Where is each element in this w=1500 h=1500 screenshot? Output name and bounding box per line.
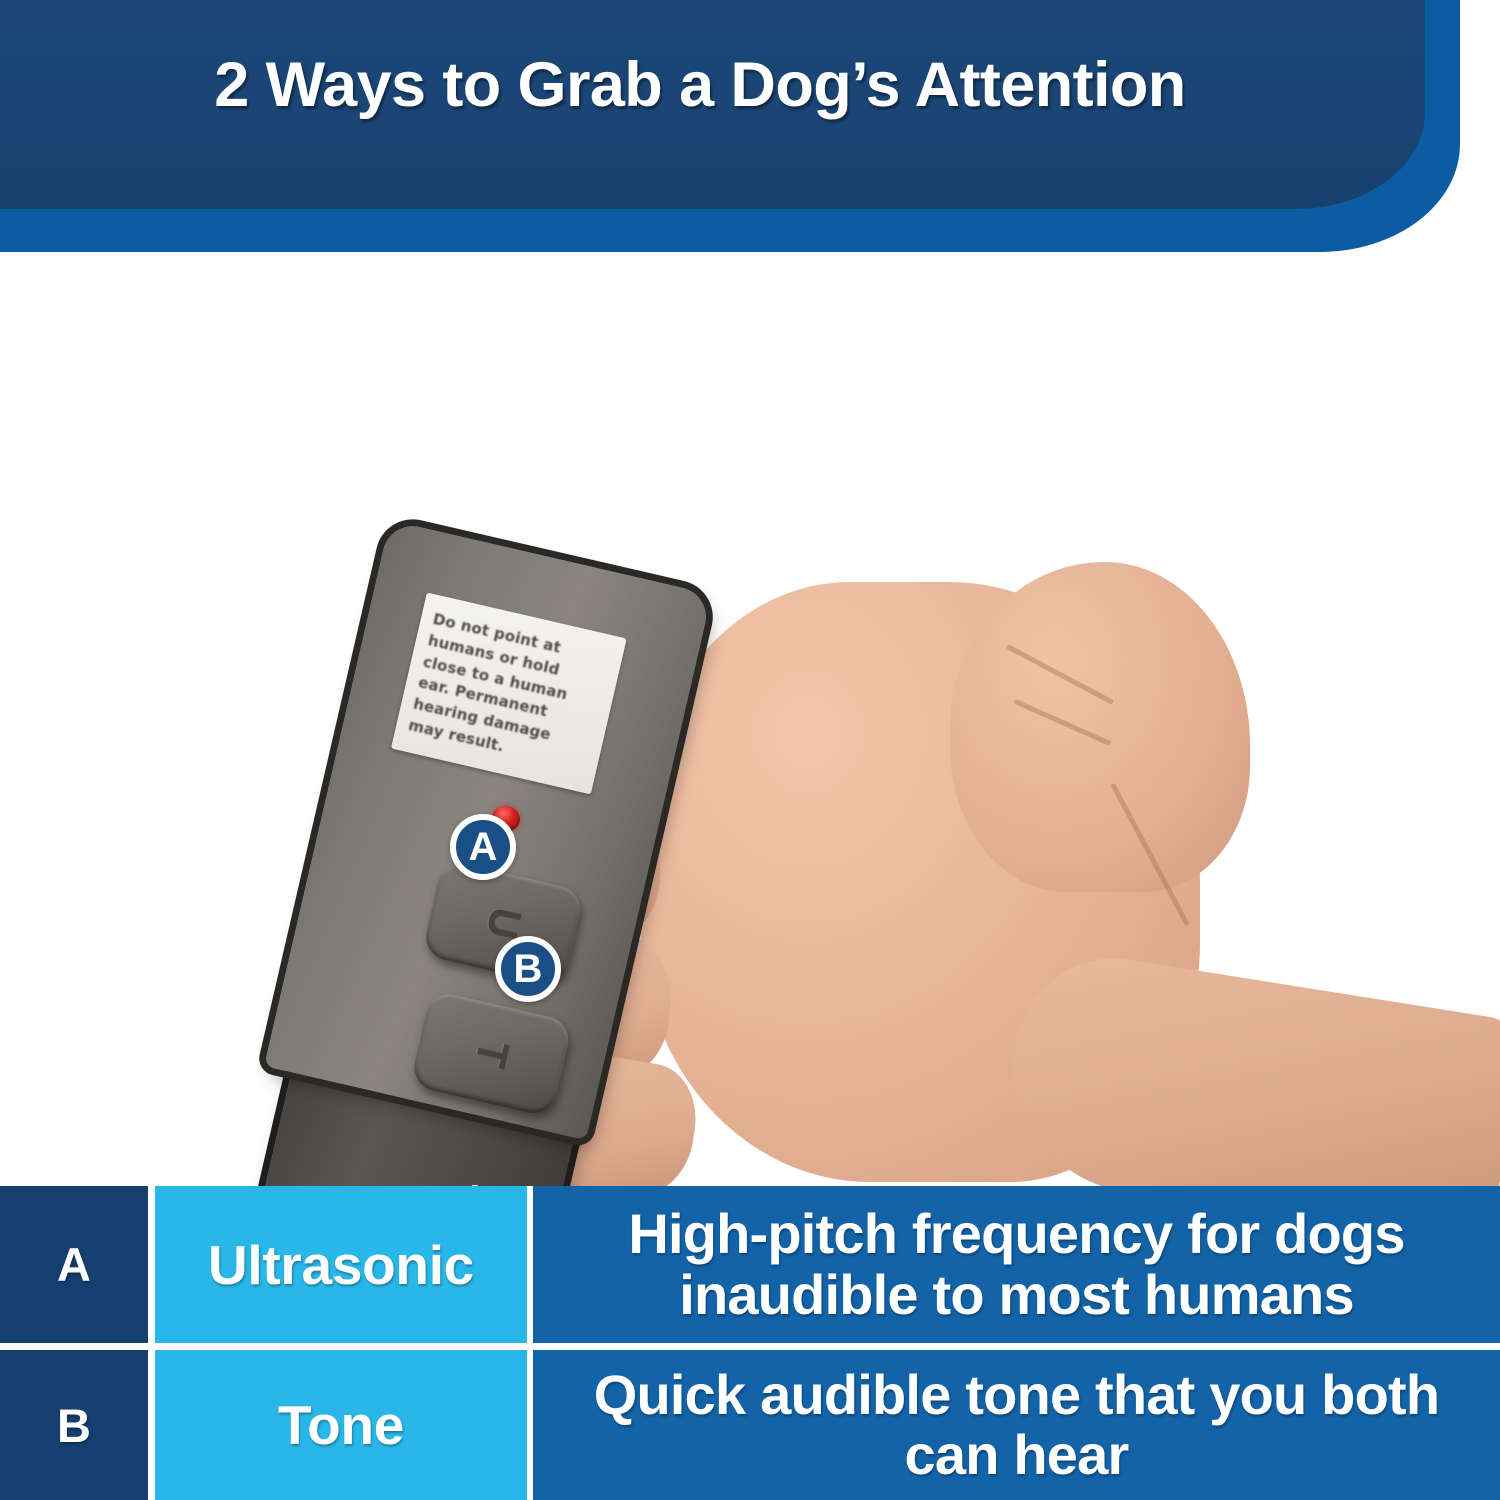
legend-row-divider	[155, 1343, 527, 1350]
warning-label: Do not point at humans or hold close to …	[391, 592, 627, 794]
legend-row-b-description: Quick audible tone that you both can hea…	[533, 1350, 1500, 1500]
device-tone-button[interactable]: T	[410, 990, 573, 1118]
thumb-knuckle	[950, 562, 1250, 892]
product-photo: Ultrasonic Pet Trainer Do not point at h…	[0, 252, 1500, 1186]
legend-column-divider	[148, 1186, 155, 1343]
warning-label-text: Do not point at humans or hold close to …	[406, 609, 612, 777]
callout-marker-a: A	[450, 814, 516, 880]
legend-row-divider	[148, 1343, 155, 1350]
legend-row-a-key: A	[0, 1186, 148, 1343]
legend-table: A Ultrasonic High-pitch frequency for do…	[0, 1186, 1500, 1500]
page-title: 2 Ways to Grab a Dog’s Attention	[0, 52, 1400, 118]
header-banner: 2 Ways to Grab a Dog’s Attention	[0, 0, 1500, 252]
callout-marker-b: B	[495, 936, 561, 1002]
legend-row-b-key: B	[0, 1350, 148, 1500]
legend-row-a-description: High-pitch frequency for dogs inaudible …	[533, 1186, 1500, 1343]
legend-row-divider	[0, 1343, 148, 1350]
legend-row-b-name: Tone	[155, 1350, 527, 1500]
legend-row-divider	[533, 1343, 1500, 1350]
legend-row-a-name: Ultrasonic	[155, 1186, 527, 1343]
wrist	[995, 944, 1500, 1186]
legend-column-divider	[148, 1350, 155, 1500]
